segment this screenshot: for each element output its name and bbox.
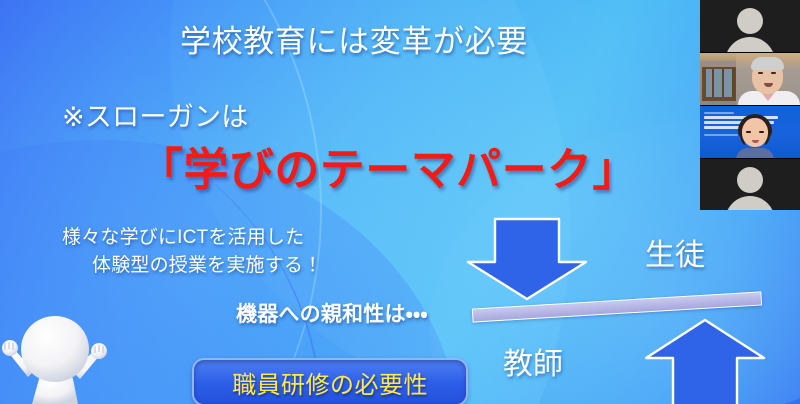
participant-tile-2[interactable] xyxy=(700,52,800,105)
screenshot-root: 学校教育には変革が必要 ※スローガンは 「学びのテーマパーク」 様々な学びにIC… xyxy=(0,0,800,404)
slogan-main-text: 「学びのテーマパーク」 xyxy=(138,133,638,198)
participant-tile-1[interactable] xyxy=(700,0,800,52)
staff-training-callout-label: 職員研修の必要性 xyxy=(232,365,428,400)
default-avatar-icon xyxy=(700,159,800,210)
slide-headline: 学校教育には変革が必要 xyxy=(180,24,660,60)
participant-tile-3[interactable] xyxy=(700,105,800,158)
participant-video-icon xyxy=(700,106,800,158)
participant-gallery[interactable] xyxy=(700,0,800,210)
label-teachers: 教師 xyxy=(503,339,563,383)
label-students: 生徒 xyxy=(645,230,705,274)
slogan-label: ※スローガンは xyxy=(62,95,249,134)
body-text-line-2: 体験型の授業を実施する！ xyxy=(92,250,322,277)
arrow-down-icon xyxy=(462,216,592,302)
staff-training-callout: 職員研修の必要性 xyxy=(192,358,468,404)
participant-video-icon xyxy=(700,53,800,105)
participant-tile-4[interactable] xyxy=(700,158,800,210)
body-text-line-1: 様々な学びにICTを活用した xyxy=(62,222,304,249)
cheering-person-icon xyxy=(0,305,118,404)
affinity-text: 機器への親和性は・・・ xyxy=(236,298,428,328)
default-avatar-icon xyxy=(700,0,800,52)
arrow-up-icon xyxy=(640,316,770,404)
shared-slide: 学校教育には変革が必要 ※スローガンは 「学びのテーマパーク」 様々な学びにIC… xyxy=(0,0,800,404)
